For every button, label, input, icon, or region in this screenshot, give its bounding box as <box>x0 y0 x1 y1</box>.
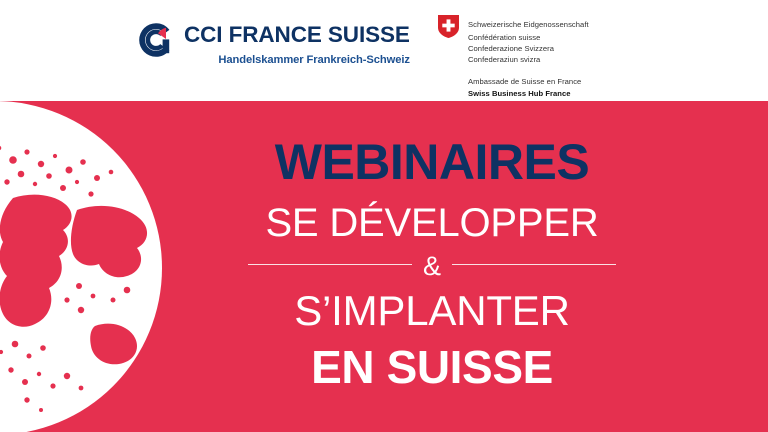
headline-eyebrow: WEBINAIRES <box>275 137 589 187</box>
swiss-lang-fr: Confédération suisse <box>468 32 589 43</box>
swiss-embassy-line: Ambassade de Suisse en France <box>468 76 589 87</box>
ampersand-divider: & <box>248 251 616 278</box>
poster-root: CCI FRANCE SUISSE Handelskammer Frankrei… <box>0 0 768 432</box>
swiss-confederation-logo[interactable]: Schweizerische Eidgenossenschaft Confédé… <box>438 14 589 99</box>
swiss-lang-rm: Confederaziun svizra <box>468 54 589 65</box>
swiss-lang-it: Confederazione Svizzera <box>468 43 589 54</box>
world-globe-graphic <box>0 101 163 432</box>
cci-france-suisse-logo[interactable]: CCI FRANCE SUISSE Handelskammer Frankrei… <box>136 19 410 66</box>
swiss-cross-shield-icon <box>438 15 459 38</box>
main-red-panel: WEBINAIRES SE DÉVELOPPER & S’IMPLANTER E… <box>0 101 768 432</box>
cci-logo-text: CCI FRANCE SUISSE Handelskammer Frankrei… <box>184 19 410 66</box>
swiss-logo-text: Schweizerische Eidgenossenschaft Confédé… <box>468 14 589 99</box>
header-band: CCI FRANCE SUISSE Handelskammer Frankrei… <box>0 0 768 101</box>
headline-block: WEBINAIRES SE DÉVELOPPER & S’IMPLANTER E… <box>222 101 642 432</box>
swiss-lang-de: Schweizerische Eidgenossenschaft <box>468 20 589 29</box>
divider-rule-right <box>452 264 616 265</box>
ampersand-symbol: & <box>412 253 452 280</box>
cci-logo-mark <box>136 20 176 60</box>
swiss-logo-spacer <box>468 65 589 76</box>
cci-logo-title: CCI FRANCE SUISSE <box>184 24 410 47</box>
divider-rule-left <box>248 264 412 265</box>
headline-line-2: S’IMPLANTER <box>294 290 570 332</box>
headline-line-1: SE DÉVELOPPER <box>265 203 598 243</box>
cci-logo-subtitle: Handelskammer Frankreich-Schweiz <box>218 55 409 66</box>
swiss-business-hub-line: Swiss Business Hub France <box>468 88 589 99</box>
headline-line-3: EN SUISSE <box>311 344 553 390</box>
